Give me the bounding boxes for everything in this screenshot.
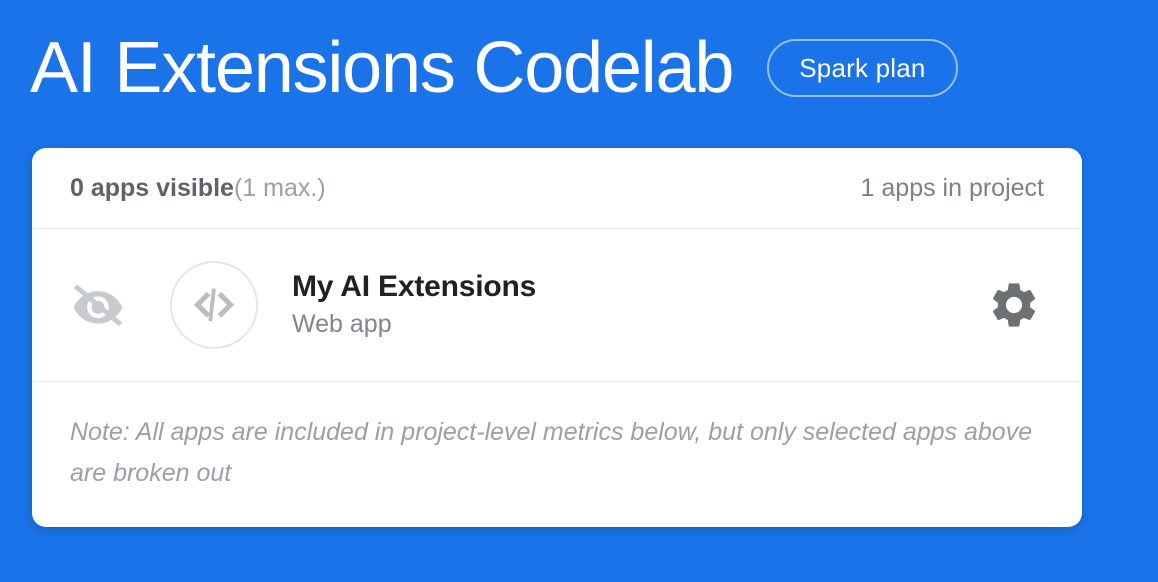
app-type: Web app (292, 308, 984, 342)
page-title: AI Extensions Codelab (30, 32, 733, 104)
app-visibility-toggle[interactable] (70, 283, 128, 327)
project-apps-count: 1 apps in project (861, 174, 1044, 203)
visible-apps-summary: 0 apps visible(1 max.) (70, 174, 326, 203)
visible-apps-count: 0 apps visible (70, 174, 234, 202)
visible-apps-max: (1 max.) (234, 174, 326, 202)
note-text: Note: All apps are included in project-l… (70, 412, 1044, 493)
apps-card-header: 0 apps visible(1 max.) 1 apps in project (32, 148, 1082, 228)
plan-badge-spark[interactable]: Spark plan (767, 39, 957, 97)
code-icon (191, 286, 237, 324)
apps-card-note: Note: All apps are included in project-l… (32, 382, 1082, 527)
page-root: AI Extensions Codelab Spark plan 0 apps … (0, 0, 1158, 582)
app-settings-button[interactable] (984, 278, 1044, 332)
apps-card: 0 apps visible(1 max.) 1 apps in project (32, 148, 1082, 527)
app-avatar (170, 261, 258, 349)
app-list-item[interactable]: My AI Extensions Web app (32, 229, 1082, 381)
gear-icon (987, 278, 1041, 332)
app-name: My AI Extensions (292, 268, 984, 306)
eye-off-icon (70, 283, 126, 327)
page-header: AI Extensions Codelab Spark plan (30, 18, 1130, 118)
app-text-block: My AI Extensions Web app (292, 268, 984, 342)
